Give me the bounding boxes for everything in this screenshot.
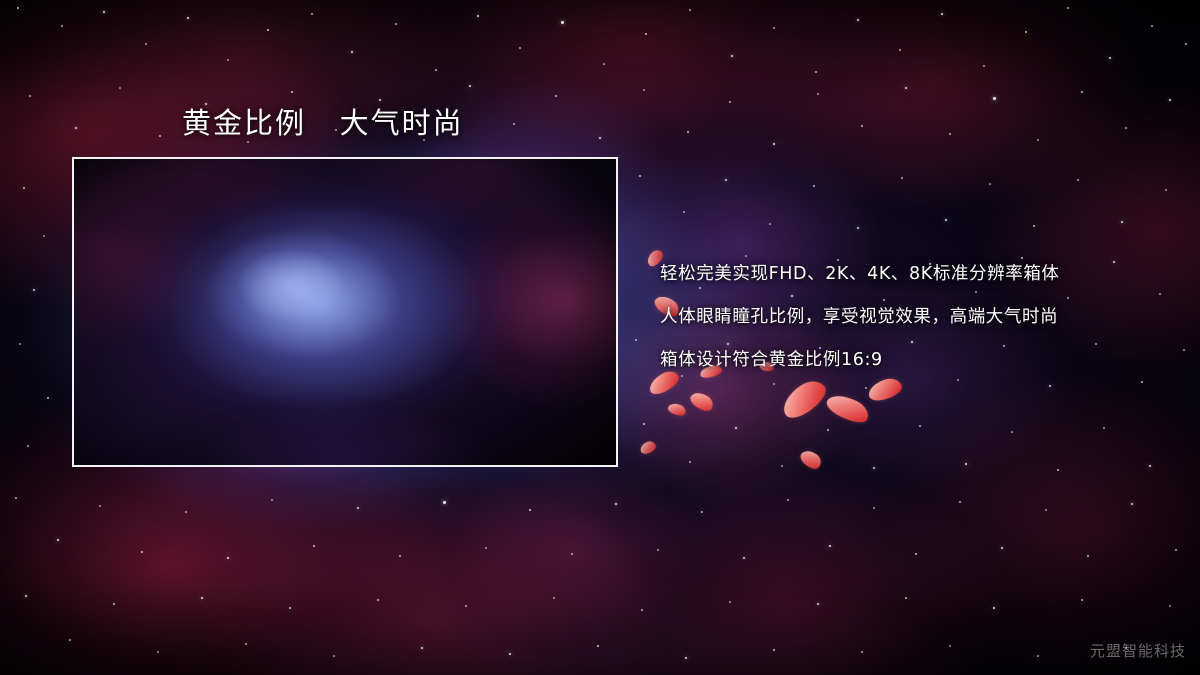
star-dot xyxy=(187,17,190,20)
body-line-3: 箱体设计符合黄金比例16:9 xyxy=(660,339,1180,382)
star-dot xyxy=(1121,221,1124,224)
star-dot xyxy=(15,497,17,499)
star-dot xyxy=(857,227,859,229)
star-dot xyxy=(643,423,645,425)
star-dot xyxy=(509,653,512,656)
star-dot xyxy=(599,137,601,139)
star-dot xyxy=(17,7,19,9)
star-dot xyxy=(1081,91,1083,93)
star-dot xyxy=(735,427,738,430)
star-dot xyxy=(477,15,479,17)
body-text-block: 轻松完美实现FHD、2K、4K、8K标准分辨率箱体 人体眼睛瞳孔比例，享受视觉效… xyxy=(660,253,1180,382)
frame-vignette xyxy=(74,159,616,465)
star-dot xyxy=(773,649,775,651)
star-dot xyxy=(773,143,776,146)
star-dot xyxy=(651,261,653,263)
star-dot xyxy=(899,49,901,51)
star-dot xyxy=(1057,469,1059,471)
star-dot xyxy=(1045,509,1047,511)
star-dot xyxy=(861,651,863,653)
star-dot xyxy=(645,33,647,35)
star-dot xyxy=(485,547,487,549)
star-dot xyxy=(141,551,143,553)
star-dot xyxy=(993,607,996,610)
rose-petal xyxy=(688,389,716,415)
star-dot xyxy=(701,511,703,513)
star-dot xyxy=(519,47,521,49)
star-dot xyxy=(769,223,771,225)
star-dot xyxy=(731,55,734,58)
star-dot xyxy=(1081,599,1083,601)
star-dot xyxy=(919,425,921,427)
star-dot xyxy=(75,127,77,129)
star-dot xyxy=(465,605,467,607)
star-dot xyxy=(1175,549,1177,551)
star-dot xyxy=(643,89,645,91)
star-dot xyxy=(23,187,25,189)
star-dot xyxy=(555,95,557,97)
star-dot xyxy=(817,93,819,95)
star-dot xyxy=(1151,25,1153,27)
star-dot xyxy=(1049,385,1051,387)
star-dot xyxy=(689,9,691,11)
star-dot xyxy=(395,23,397,25)
star-dot xyxy=(19,343,21,345)
star-dot xyxy=(1087,555,1089,557)
star-dot xyxy=(267,29,269,31)
star-dot xyxy=(159,135,161,137)
star-dot xyxy=(1169,99,1172,102)
star-dot xyxy=(289,607,291,609)
star-dot xyxy=(227,557,230,560)
star-dot xyxy=(435,69,437,71)
star-dot xyxy=(781,465,783,467)
star-dot xyxy=(773,27,775,29)
star-dot xyxy=(399,555,401,557)
star-dot xyxy=(827,429,829,431)
star-dot xyxy=(1001,547,1004,550)
star-dot xyxy=(1037,655,1039,657)
star-dot xyxy=(635,339,637,341)
star-dot xyxy=(29,95,31,97)
star-dot xyxy=(1185,43,1187,45)
star-dot xyxy=(639,175,641,177)
star-dot xyxy=(1149,465,1152,468)
rose-petal xyxy=(639,440,658,456)
star-dot xyxy=(357,507,359,509)
star-dot xyxy=(333,655,335,657)
star-dot xyxy=(949,133,951,135)
star-dot xyxy=(1037,139,1039,141)
star-dot xyxy=(729,101,731,103)
star-dot xyxy=(687,131,689,133)
star-dot xyxy=(1183,349,1185,351)
star-dot xyxy=(119,87,121,89)
star-dot xyxy=(829,545,832,548)
star-dot xyxy=(813,185,815,187)
star-dot xyxy=(1125,127,1127,129)
star-dot xyxy=(1025,31,1027,33)
slide-canvas: 黄金比例 大气时尚 轻松完美实现FHD、2K、4K、8K标准分辨率箱体 人体眼睛… xyxy=(0,0,1200,675)
star-dot xyxy=(271,499,273,501)
star-dot xyxy=(657,549,659,551)
star-dot xyxy=(33,289,35,291)
star-dot xyxy=(351,51,354,54)
star-dot xyxy=(959,501,961,503)
star-dot xyxy=(145,43,147,45)
star-dot xyxy=(949,645,951,647)
star-dot xyxy=(905,597,907,599)
star-dot xyxy=(1033,225,1035,227)
star-dot xyxy=(513,123,515,125)
rose-petal xyxy=(798,447,824,473)
star-dot xyxy=(1131,503,1133,505)
star-dot xyxy=(245,643,247,645)
star-dot xyxy=(685,657,688,660)
nebula-photo-frame[interactable] xyxy=(72,157,618,467)
star-dot xyxy=(313,545,315,547)
star-dot xyxy=(47,397,49,399)
star-dot xyxy=(729,601,731,603)
star-dot xyxy=(1103,427,1105,429)
star-dot xyxy=(689,461,691,463)
star-dot xyxy=(443,501,446,504)
star-dot xyxy=(983,65,985,67)
star-dot xyxy=(61,25,63,27)
star-dot xyxy=(1067,7,1069,9)
star-dot xyxy=(561,21,564,24)
watermark: 元盟智能科技 xyxy=(1090,640,1186,661)
star-dot xyxy=(857,19,859,21)
star-dot xyxy=(571,553,573,555)
rose-petal xyxy=(667,401,688,418)
star-dot xyxy=(615,503,618,506)
star-dot xyxy=(1077,179,1079,181)
star-dot xyxy=(901,177,903,179)
star-dot xyxy=(725,179,728,182)
star-dot xyxy=(99,505,101,507)
star-dot xyxy=(1011,431,1013,433)
body-line-1: 轻松完美实现FHD、2K、4K、8K标准分辨率箱体 xyxy=(660,253,1180,296)
star-dot xyxy=(1169,605,1171,607)
star-dot xyxy=(965,463,968,466)
star-dot xyxy=(773,383,775,385)
star-dot xyxy=(113,603,115,605)
star-dot xyxy=(1165,189,1167,191)
star-dot xyxy=(817,603,819,605)
star-dot xyxy=(291,91,293,93)
star-dot xyxy=(861,125,863,127)
star-dot xyxy=(941,13,944,16)
star-dot xyxy=(553,597,555,599)
star-dot xyxy=(905,87,907,89)
frame-inner xyxy=(74,159,616,465)
star-dot xyxy=(201,597,204,600)
star-dot xyxy=(815,71,817,73)
star-dot xyxy=(865,387,867,389)
star-dot xyxy=(25,595,27,597)
star-dot xyxy=(43,235,45,237)
star-dot xyxy=(915,553,917,555)
star-dot xyxy=(157,651,159,653)
rose-petal xyxy=(777,375,831,423)
star-dot xyxy=(377,599,379,601)
star-dot xyxy=(421,647,423,649)
star-dot xyxy=(993,97,996,100)
star-dot xyxy=(743,557,745,559)
body-line-2: 人体眼睛瞳孔比例，享受视觉效果，高端大气时尚 xyxy=(660,296,1180,339)
star-dot xyxy=(603,63,605,65)
star-dot xyxy=(103,11,105,13)
star-dot xyxy=(641,609,643,611)
star-dot xyxy=(597,645,599,647)
rose-petal xyxy=(824,389,873,427)
star-dot xyxy=(989,183,991,185)
star-dot xyxy=(57,539,60,542)
star-dot xyxy=(873,507,875,509)
star-dot xyxy=(227,59,229,61)
star-dot xyxy=(873,467,875,469)
star-dot xyxy=(529,509,531,511)
star-dot xyxy=(787,499,789,501)
star-dot xyxy=(683,211,685,213)
star-dot xyxy=(1109,57,1112,60)
star-dot xyxy=(69,639,71,641)
star-dot xyxy=(469,85,472,88)
page-title: 黄金比例 大气时尚 xyxy=(182,100,464,142)
star-dot xyxy=(27,445,29,447)
star-dot xyxy=(945,219,948,222)
star-dot xyxy=(185,511,187,513)
star-dot xyxy=(311,13,313,15)
